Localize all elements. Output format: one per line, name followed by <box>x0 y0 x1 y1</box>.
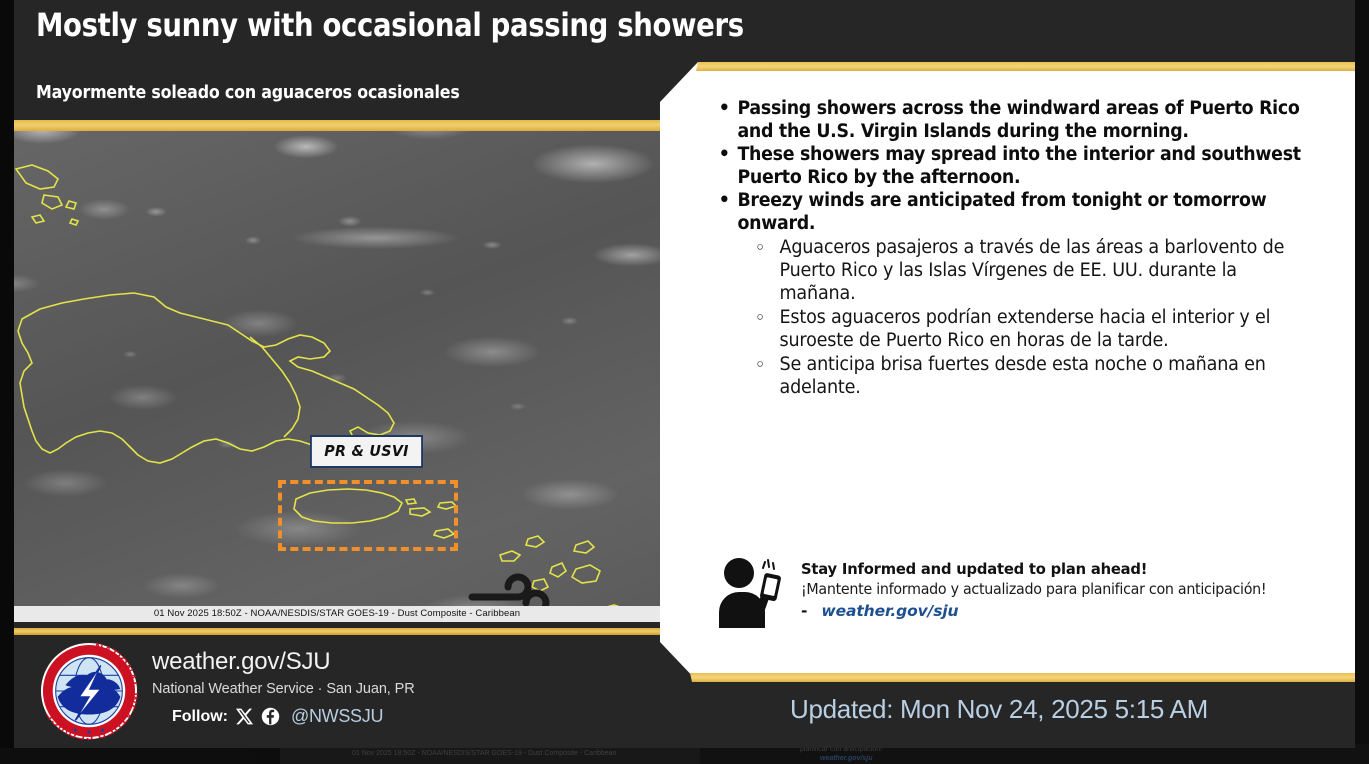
info-card-top-accent <box>660 62 1355 71</box>
bullet-es: Aguaceros pasajeros a través de las área… <box>751 237 1315 306</box>
satellite-caption: 01 Nov 2025 18:50Z - NOAA/NESDIS/STAR GO… <box>14 606 660 622</box>
weather-graphic: S 01 Nov 2025 18:50Z - NOAA/NESDIS/STAR … <box>0 0 1369 764</box>
person-with-phone-icon <box>713 556 787 628</box>
satellite-image: PR & USVI <box>14 131 660 606</box>
branding-accent-bar <box>14 628 660 635</box>
weather-gov-link[interactable]: weather.gov/sju <box>821 602 958 620</box>
bullet-list: Passing showers across the windward area… <box>713 98 1345 401</box>
stay-informed-subheading: ¡Mantente informado y actualizado para p… <box>801 580 1266 598</box>
updated-timestamp: Updated: Mon Nov 24, 2025 5:15 AM <box>790 694 1208 725</box>
facebook-icon[interactable] <box>261 707 280 726</box>
bullet-sublist-es: Aguaceros pasajeros a través de las área… <box>751 237 1345 400</box>
bullet-es: Estos aguaceros podrían extenderse hacia… <box>751 307 1315 353</box>
bullet-en: Passing showers across the windward area… <box>713 98 1307 143</box>
x-twitter-icon[interactable] <box>235 707 254 726</box>
satellite-panel: PR & USVI 01 Nov 2025 18:50Z - NOAA/NESD… <box>14 120 660 622</box>
area-label-pr-usvi: PR & USVI <box>310 435 423 468</box>
peek-caption: 01 Nov 2025 18:50Z - NOAA/NESDIS/STAR GO… <box>352 750 616 757</box>
branding-org: National Weather Service · San Juan, PR <box>152 681 415 697</box>
stay-informed-heading: Stay Informed and updated to plan ahead! <box>801 560 1266 578</box>
social-handle: @NWSSJU <box>291 706 383 727</box>
nws-seal-logo: NATIONAL WEATHER SERVICE <box>40 642 138 740</box>
bullet-en: Breezy winds are anticipated from tonigh… <box>713 190 1307 235</box>
page-title: Mostly sunny with occasional passing sho… <box>36 8 844 43</box>
page-subtitle: Mayormente soleado con aguaceros ocasion… <box>36 82 599 103</box>
left-gutter <box>0 0 14 748</box>
stay-informed-link-row: -weather.gov/sju <box>801 602 1291 620</box>
branding-url[interactable]: weather.gov/SJU <box>152 648 330 676</box>
peek-link: weather.gov/sju <box>820 755 873 762</box>
bullet-es: Se anticipa brisa fuertes desde esta noc… <box>751 354 1315 400</box>
info-card-bottom-accent <box>660 673 1355 682</box>
follow-label: Follow: <box>172 708 228 726</box>
branding-footer: NATIONAL WEATHER SERVICE weather.gov/SJU… <box>14 628 660 748</box>
stay-informed-block: Stay Informed and updated to plan ahead!… <box>713 556 1353 628</box>
dash-marker: - <box>801 602 807 620</box>
bullet-en: These showers may spread into the interi… <box>713 144 1307 189</box>
wind-icon <box>466 571 562 606</box>
satellite-accent-bar <box>14 120 660 131</box>
highlight-box <box>278 480 458 551</box>
follow-row: Follow: @NWSSJU <box>172 706 383 727</box>
